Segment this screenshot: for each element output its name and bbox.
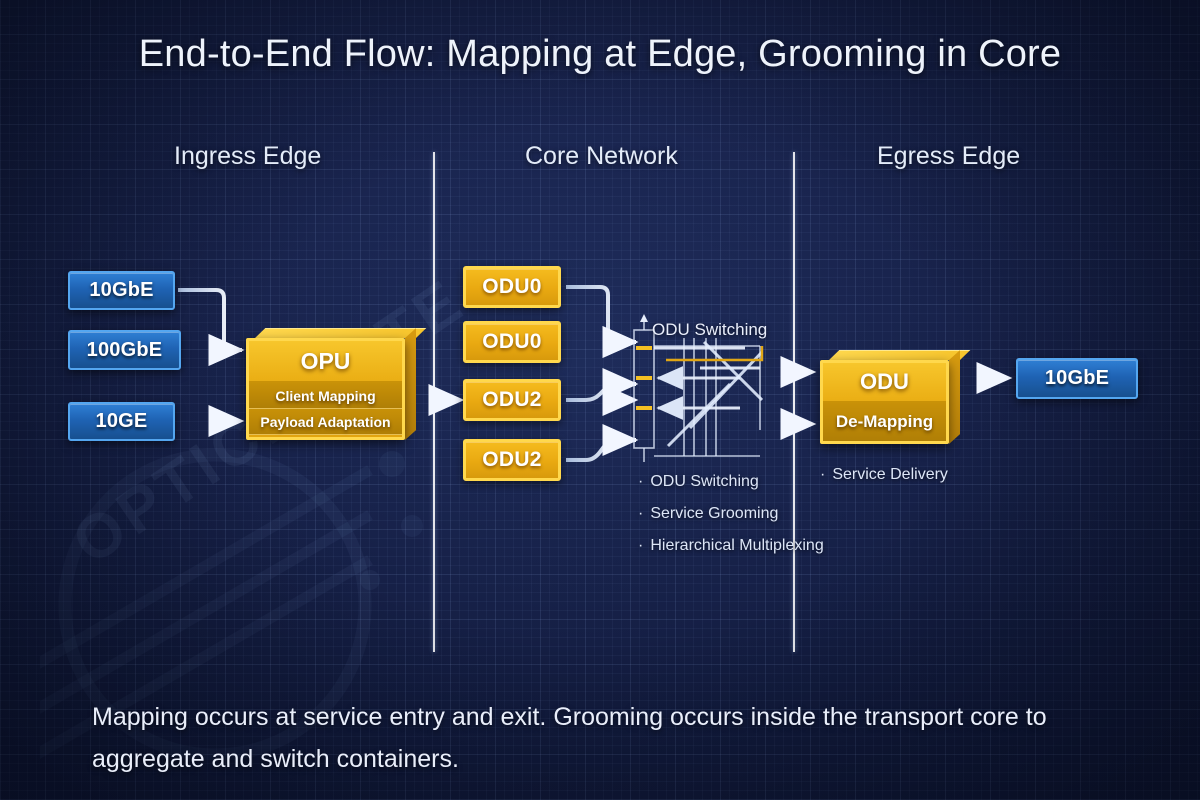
switching-fabric-label: ODU Switching xyxy=(652,320,767,340)
odu-demapping-block-side-face xyxy=(949,350,960,444)
egress-client-box[interactable]: 10GbE xyxy=(1016,358,1138,399)
opu-block-row: Payload Adaptation xyxy=(249,409,402,435)
opu-block-title: OPU xyxy=(249,341,402,383)
egress-bullet-list: ·Service Delivery xyxy=(820,466,948,498)
caption-text: Mapping occurs at service entry and exit… xyxy=(92,696,1112,780)
section-header-egress: Egress Edge xyxy=(877,142,1020,171)
odu-demapping-block-front-face: ODU De-Mapping xyxy=(820,360,949,444)
list-item: ·Service Delivery xyxy=(820,466,948,484)
connector-arrow-layer xyxy=(0,0,1200,800)
divider-ingress-core xyxy=(433,152,435,652)
list-item-label: ODU Switching xyxy=(650,473,758,490)
odu-container-box[interactable]: ODU0 xyxy=(463,321,561,363)
bullet-dot-icon: · xyxy=(820,466,825,483)
list-item-label: Service Delivery xyxy=(832,466,948,483)
opu-block-row: Client Mapping xyxy=(249,383,402,409)
opu-block-top-face xyxy=(255,328,426,338)
bullet-dot-icon: · xyxy=(638,473,643,490)
client-box[interactable]: 100GbE xyxy=(68,330,181,370)
odu-container-box[interactable]: ODU2 xyxy=(463,439,561,481)
list-item-label: Service Grooming xyxy=(650,505,778,522)
list-item: ·ODU Switching xyxy=(638,473,824,491)
list-item-label: Hierarchical Multiplexing xyxy=(650,537,823,554)
odu-demapping-block-row: De-Mapping xyxy=(823,403,946,441)
section-header-core: Core Network xyxy=(525,142,678,171)
odu-container-box[interactable]: ODU0 xyxy=(463,266,561,308)
page-title: End-to-End Flow: Mapping at Edge, Groomi… xyxy=(0,33,1200,76)
bullet-dot-icon: · xyxy=(638,505,643,522)
client-box[interactable]: 10GE xyxy=(68,402,175,441)
slide-canvas: OPTICROUTE End-to-End Flow: Mapping at E… xyxy=(0,0,1200,800)
odu-container-box[interactable]: ODU2 xyxy=(463,379,561,421)
vignette-overlay xyxy=(0,0,1200,800)
opu-block-front-face: OPU Client Mapping Payload Adaptation xyxy=(246,338,405,440)
bullet-dot-icon: · xyxy=(638,537,643,554)
core-bullet-list: ·ODU Switching ·Service Grooming ·Hierar… xyxy=(638,473,824,569)
odu-demapping-block[interactable]: ODU De-Mapping xyxy=(820,350,960,444)
list-item: ·Service Grooming xyxy=(638,505,824,523)
opu-block[interactable]: OPU Client Mapping Payload Adaptation xyxy=(246,328,416,440)
client-box[interactable]: 10GbE xyxy=(68,271,175,310)
blueprint-grid-overlay xyxy=(0,0,1200,800)
divider-core-egress xyxy=(793,152,795,652)
odu-demapping-block-title: ODU xyxy=(823,363,946,403)
list-item: ·Hierarchical Multiplexing xyxy=(638,537,824,555)
section-header-ingress: Ingress Edge xyxy=(174,142,321,171)
opu-block-side-face xyxy=(405,328,416,440)
